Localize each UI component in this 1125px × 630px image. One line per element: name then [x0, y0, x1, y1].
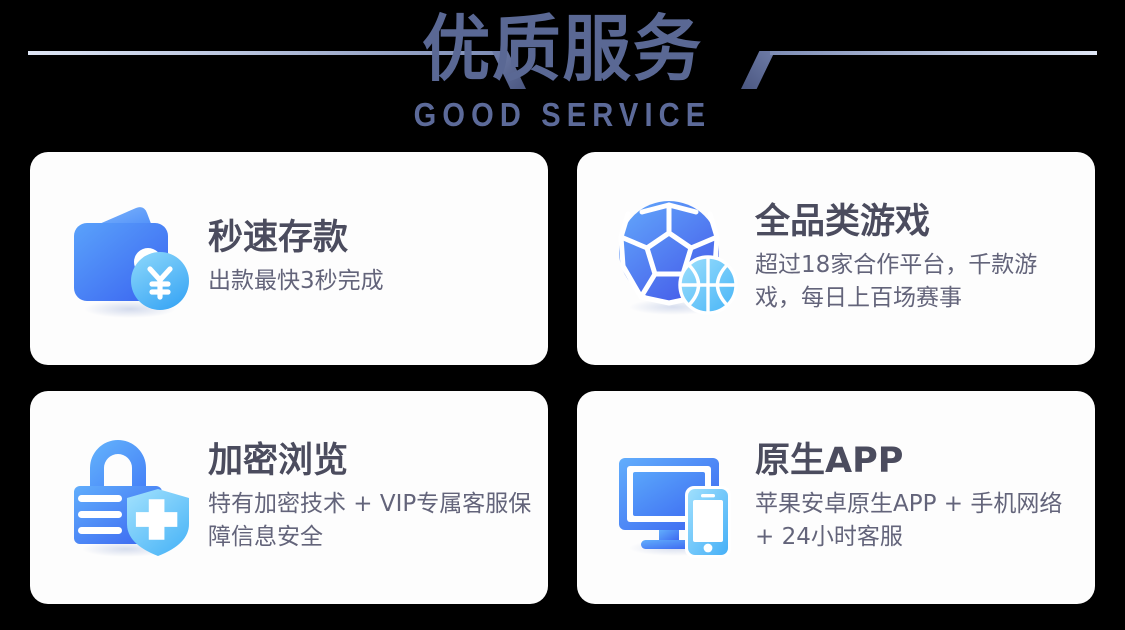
card-description: 出款最快3秒完成: [208, 265, 534, 298]
feature-text: 原生APP 苹果安卓原生APP + 手机网络 + 24小时客服: [755, 440, 1095, 556]
card-description: 超过18家合作平台，千款游戏，每日上百场赛事: [755, 249, 1081, 315]
wallet-yen-icon: [64, 193, 196, 325]
lock-shield-icon: [64, 432, 196, 564]
header: 优质服务 GOOD SERVICE: [0, 0, 1125, 146]
feature-card-encryption[interactable]: 加密浏览 特有加密技术 + VIP专属客服保障信息安全: [30, 391, 548, 604]
card-title: 秒速存款: [208, 217, 534, 259]
feature-card-games[interactable]: 全品类游戏 超过18家合作平台，千款游戏，每日上百场赛事: [577, 152, 1095, 365]
monitor-phone-icon: [611, 432, 743, 564]
soccer-basketball-icon: [611, 193, 743, 325]
card-description: 特有加密技术 + VIP专属客服保障信息安全: [208, 488, 534, 554]
feature-card-deposit[interactable]: 秒速存款 出款最快3秒完成: [30, 152, 548, 365]
feature-card-grid: 秒速存款 出款最快3秒完成: [30, 152, 1095, 604]
feature-text: 秒速存款 出款最快3秒完成: [208, 217, 548, 300]
page-title: 优质服务: [28, 8, 1097, 90]
card-title: 原生APP: [755, 440, 1081, 482]
card-title: 全品类游戏: [755, 201, 1081, 243]
card-description: 苹果安卓原生APP + 手机网络 + 24小时客服: [755, 488, 1081, 554]
promo-banner: 优质服务 GOOD SERVICE: [0, 0, 1125, 630]
feature-text: 全品类游戏 超过18家合作平台，千款游戏，每日上百场赛事: [755, 201, 1095, 317]
feature-text: 加密浏览 特有加密技术 + VIP专属客服保障信息安全: [208, 440, 548, 556]
feature-card-native-app[interactable]: 原生APP 苹果安卓原生APP + 手机网络 + 24小时客服: [577, 391, 1095, 604]
page-subtitle: GOOD SERVICE: [68, 96, 1058, 134]
card-title: 加密浏览: [208, 440, 534, 482]
